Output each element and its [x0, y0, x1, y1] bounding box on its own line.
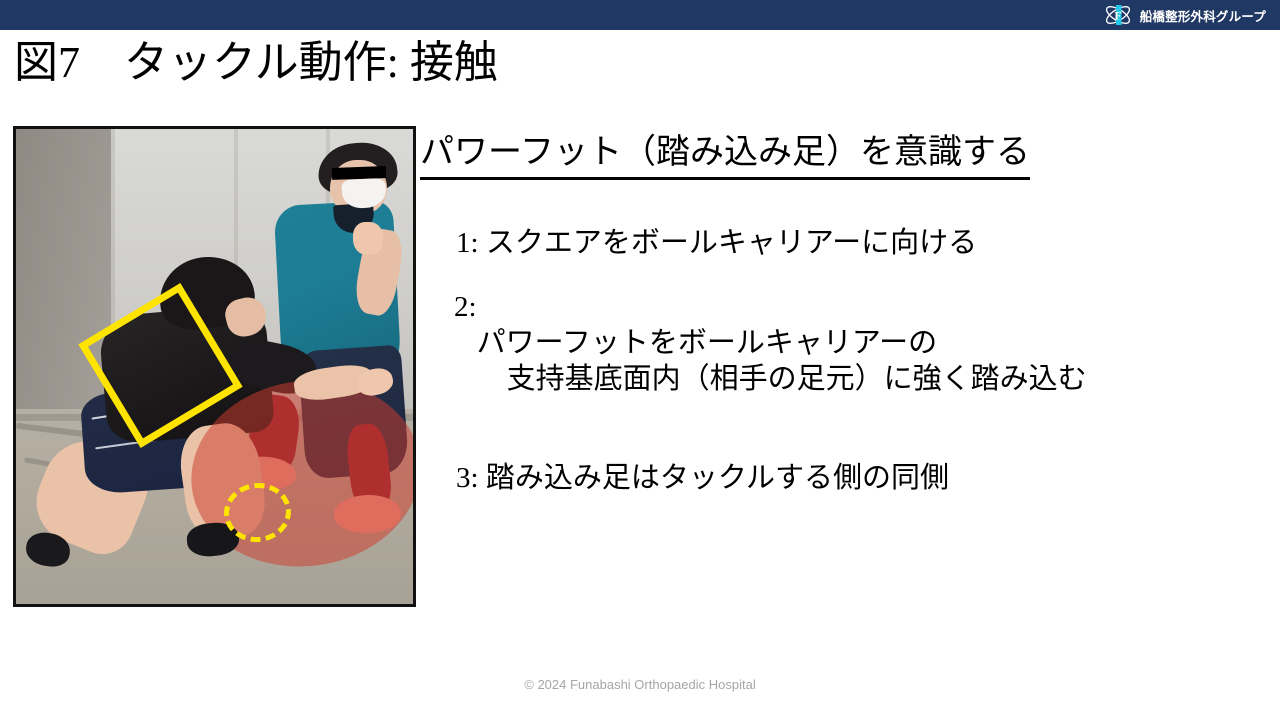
step-text: 踏み込み足はタックルする側の同側	[486, 460, 949, 496]
page-title: 図7 タックル動作: 接触	[14, 38, 498, 89]
list-item: 3: 踏み込み足はタックルする側の同側	[420, 460, 1268, 496]
brand-name: 船橋整形外科グループ	[1140, 6, 1266, 25]
content-column: パワーフット（踏み込み足）を意識する 1: スクエアをボールキャリアーに向ける …	[420, 132, 1268, 496]
list-item: 1: スクエアをボールキャリアーに向ける	[420, 225, 1268, 261]
step-number: 2:	[454, 289, 477, 325]
brand-bar: F 船橋整形外科グループ	[0, 0, 1280, 30]
atom-orbit-f-logo-icon: F	[1103, 3, 1133, 27]
step-number: 1:	[456, 225, 486, 261]
step-text: パワーフットをボールキャリアーの 支持基底面内（相手の足元）に強く踏み込む	[477, 289, 1087, 434]
svg-text:F: F	[1114, 9, 1121, 23]
step-text-line-2: 支持基底面内（相手の足元）に強く踏み込む	[477, 361, 1087, 397]
demonstration-photo	[13, 126, 416, 607]
step-list: 1: スクエアをボールキャリアーに向ける 2: パワーフットをボールキャリアーの…	[420, 225, 1268, 497]
step-text-line-1: パワーフットをボールキャリアーの	[477, 327, 938, 359]
step-number: 3:	[456, 460, 486, 496]
standing-person-hand	[353, 222, 383, 255]
list-item: 2: パワーフットをボールキャリアーの 支持基底面内（相手の足元）に強く踏み込む	[420, 289, 1268, 434]
step-text: スクエアをボールキャリアーに向ける	[486, 225, 977, 261]
photo-canvas	[16, 129, 413, 604]
footer-copyright: © 2024 Funabashi Orthopaedic Hospital	[0, 677, 1280, 692]
lead-heading: パワーフット（踏み込み足）を意識する	[420, 132, 1030, 180]
